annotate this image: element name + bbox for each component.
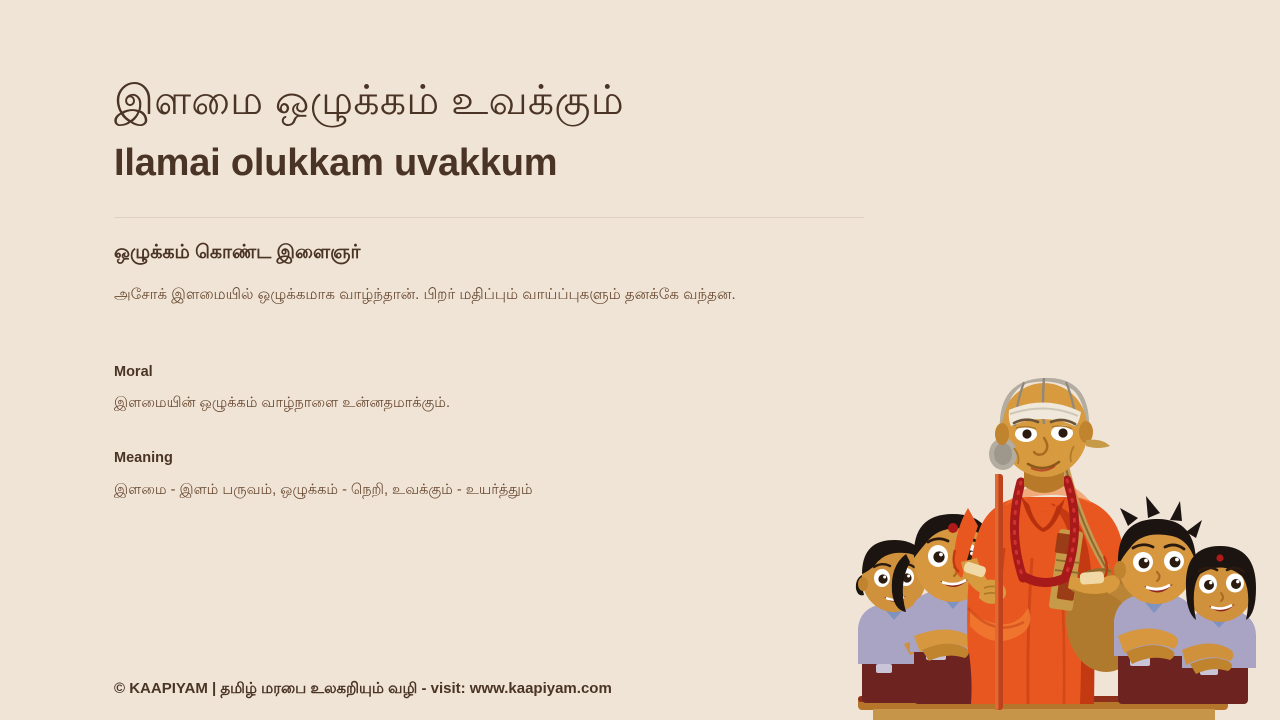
story-body-text: அசோக் இளமையில் ஒழுக்கமாக வாழ்ந்தான். பிற… xyxy=(114,283,854,306)
elder-sage xyxy=(954,378,1146,710)
page-title-tamil: இளமை ஒழுக்கம் உவக்கும் xyxy=(114,75,624,126)
story-card: இளமை ஒழுக்கம் உவக்கும் Ilamai olukkam uv… xyxy=(0,0,1280,720)
meaning-label: Meaning xyxy=(114,448,173,468)
page-title-transliteration: Ilamai olukkam uvakkum xyxy=(114,140,557,188)
moral-label: Moral xyxy=(114,362,153,382)
moral-text: இளமையின் ஒழுக்கம் வாழ்நாளை உன்னதமாக்கும்… xyxy=(114,392,814,414)
elder-sage-with-children-illustration xyxy=(818,378,1280,720)
header-divider xyxy=(114,217,864,218)
footer-credit: © KAAPIYAM | தமிழ் மரபை உலகறியும் வழி - … xyxy=(114,678,612,699)
story-heading: ஒழுக்கம் கொண்ட இளைஞர் xyxy=(114,240,360,267)
meaning-text: இளமை - இளம் பருவம், ஒழுக்கம் - நெறி, உவக… xyxy=(114,479,854,501)
child-far-right-girl xyxy=(1182,546,1256,704)
